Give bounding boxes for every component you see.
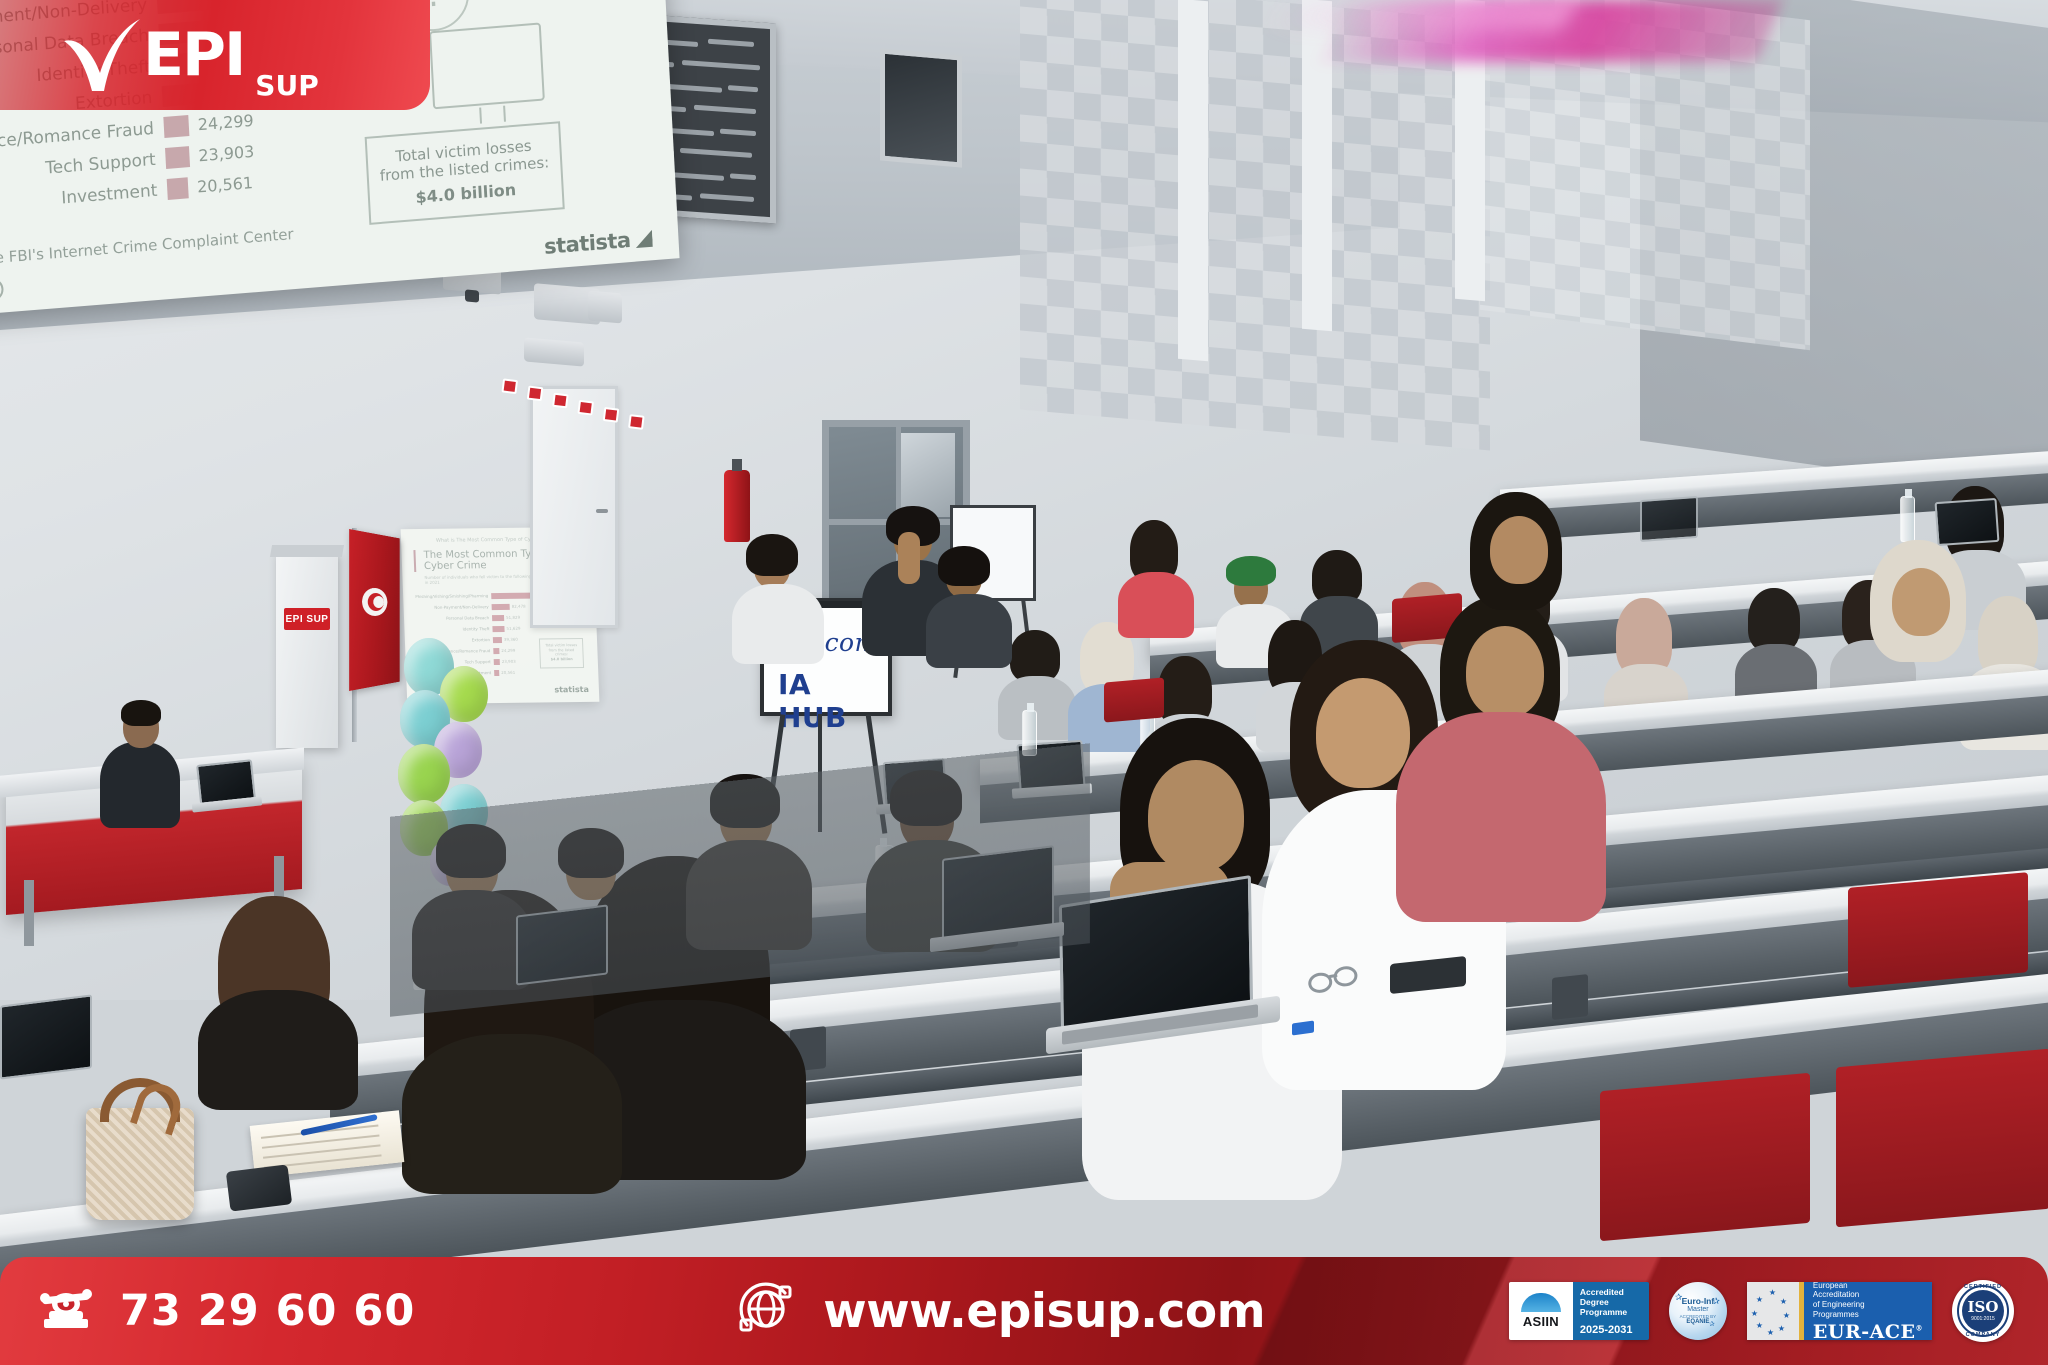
iso-bottom-text: COMPANY xyxy=(1966,1332,2001,1338)
website-url[interactable]: www.episup.com xyxy=(823,1284,1265,1339)
eurace-sup: ® xyxy=(1916,1323,1924,1332)
footer-website-group: www.episup.com xyxy=(735,1278,1265,1345)
lecturer-hair xyxy=(121,700,161,726)
euro-inf-badge: ✰ ✰ ✰ Euro-Inf Master ACCREDITED BY EQAN… xyxy=(1669,1282,1727,1340)
footer-phone-group: 73 29 60 60 xyxy=(0,1285,415,1338)
asiin-line2: Degree xyxy=(1580,1297,1642,1307)
statista-logo: statista xyxy=(554,685,589,694)
audience-body xyxy=(732,584,824,664)
eu-stars-icon: ★ ★ ★ ★ ★ ★ ★ ★ xyxy=(1747,1282,1799,1340)
audience-hair xyxy=(1010,630,1060,682)
iso-badge: CERTIFIED ISO 9001:2015 COMPANY xyxy=(1952,1280,2014,1342)
student-head xyxy=(1892,568,1950,636)
audience-hair xyxy=(1748,588,1800,652)
accreditation-badges: ASIIN Accredited Degree Programme 2025-2… xyxy=(1509,1280,2048,1342)
annotation-title: Total victim losses from the listed crim… xyxy=(379,136,549,185)
asiin-label: ASIIN xyxy=(1523,1314,1559,1329)
bar-value: 23,903 xyxy=(500,659,516,664)
student-head xyxy=(1490,516,1548,584)
creative-commons-icons: cc ● ═ xyxy=(0,277,4,307)
laptop[interactable] xyxy=(0,994,92,1079)
eurace-line2: Accreditation xyxy=(1813,1290,1923,1300)
desk-leg xyxy=(24,880,34,946)
student-head xyxy=(1316,678,1410,788)
slide-annotation: Total victim losses from the listed crim… xyxy=(365,121,565,225)
iso-top-text: CERTIFIED xyxy=(1964,1284,2002,1290)
audience-hands xyxy=(898,532,920,584)
footer-contact-banner: 73 29 60 60 www.episup.com ASIIN xyxy=(0,1257,2048,1365)
asiin-line3: Programme xyxy=(1580,1307,1642,1317)
bar-value: 24,299 xyxy=(188,111,254,135)
lecturer-body xyxy=(100,742,180,828)
audience-body xyxy=(926,594,1012,668)
water-bottle xyxy=(1900,496,1915,542)
phone-number[interactable]: 73 29 60 60 xyxy=(120,1286,415,1336)
asiin-arc-icon xyxy=(1521,1293,1561,1312)
podium-logo: EPI SUP xyxy=(284,608,330,630)
brand-suffix: SUP xyxy=(255,69,318,102)
checkmark-icon xyxy=(58,17,144,93)
student-body xyxy=(198,990,358,1110)
handbag xyxy=(86,1108,194,1220)
monitor-icon xyxy=(429,22,545,109)
lecture-hall-photo: The Most Common Types of Cyber Crime Phi… xyxy=(0,0,2048,1365)
audience-body xyxy=(1118,572,1194,638)
student-head xyxy=(1466,626,1544,718)
bar-value: 23,903 xyxy=(189,142,255,166)
eurace-name: EUR-ACE xyxy=(1813,1321,1916,1343)
wall-pilaster-3 xyxy=(1178,0,1208,361)
auditorium-seat[interactable] xyxy=(1836,1049,2048,1228)
brand-name: EPI xyxy=(143,25,244,85)
slide-source: Source: The FBI's Internet Crime Complai… xyxy=(0,225,294,273)
laptop[interactable] xyxy=(1935,498,2000,546)
header-brand-banner: EPI SUP xyxy=(0,0,430,110)
bar-value: 39,360 xyxy=(502,637,518,642)
auditorium-seat[interactable] xyxy=(1104,677,1164,722)
magenta-light-glow xyxy=(1263,0,1576,30)
student-body xyxy=(1396,712,1606,922)
eurace-line4: Programmes xyxy=(1813,1310,1923,1320)
bar-label: Non-Payment/Non-Delivery xyxy=(416,604,492,610)
auditorium-seat[interactable] xyxy=(1848,872,2028,988)
upper-window xyxy=(880,48,962,167)
eur-ace-badge: ★ ★ ★ ★ ★ ★ ★ ★ European Accreditation o… xyxy=(1747,1282,1932,1340)
asiin-badge: ASIIN Accredited Degree Programme 2025-2… xyxy=(1509,1282,1649,1340)
bar-label: Personal Data Breach xyxy=(416,615,492,621)
auditorium-seat[interactable] xyxy=(1600,1073,1810,1241)
eurace-line1: European xyxy=(1813,1281,1923,1291)
statista-logo: statista xyxy=(543,226,653,259)
bar-label: Identity Theft xyxy=(416,626,492,632)
asiin-line1: Accredited xyxy=(1580,1287,1642,1297)
acoustic-panel-right xyxy=(1020,0,1490,451)
tunisian-flag xyxy=(349,529,400,691)
euroinf-line1: Euro-Inf xyxy=(1682,1297,1715,1306)
ceiling-speaker-3 xyxy=(524,337,584,366)
bar-value: 51,629 xyxy=(504,626,520,631)
bar-value: 51,829 xyxy=(504,615,520,620)
bar-value: 20,561 xyxy=(188,173,254,197)
audience-cap xyxy=(1226,556,1276,586)
bench-bracket xyxy=(1552,974,1588,1020)
student-head xyxy=(1148,760,1244,872)
slide-annotation: Total victim losses from the listed crim… xyxy=(539,638,584,669)
screenshot-stage: The Most Common Types of Cyber Crime Phi… xyxy=(0,0,2048,1365)
euroinf-line4: EQANIE xyxy=(1686,1319,1709,1325)
fire-extinguisher-icon xyxy=(724,470,750,542)
audience-hair xyxy=(938,546,990,586)
bar-label: Phishing/Vishing/Smishing/Pharming xyxy=(415,593,491,599)
student-body xyxy=(402,1034,622,1194)
globe-icon xyxy=(735,1278,797,1345)
lectern-podium: EPI SUP xyxy=(276,552,338,748)
laptop[interactable] xyxy=(1640,496,1698,542)
euroinf-line2: Master xyxy=(1687,1306,1708,1314)
ceiling-speaker-2 xyxy=(588,291,622,324)
balloon xyxy=(398,744,450,804)
smartphone xyxy=(226,1164,292,1211)
telephone-icon xyxy=(38,1285,94,1338)
bar-label: Investment xyxy=(0,179,168,220)
bar-value: 82,478 xyxy=(510,604,526,609)
audience-hair xyxy=(746,534,798,576)
asiin-years: 2025-2031 xyxy=(1580,1324,1642,1336)
eurace-line3: of Engineering xyxy=(1813,1300,1923,1310)
bar-value: 20,561 xyxy=(499,670,515,675)
bar-value: 24,299 xyxy=(499,648,515,653)
cc-nd-icon: ═ xyxy=(0,277,4,302)
audience-body xyxy=(998,676,1076,740)
